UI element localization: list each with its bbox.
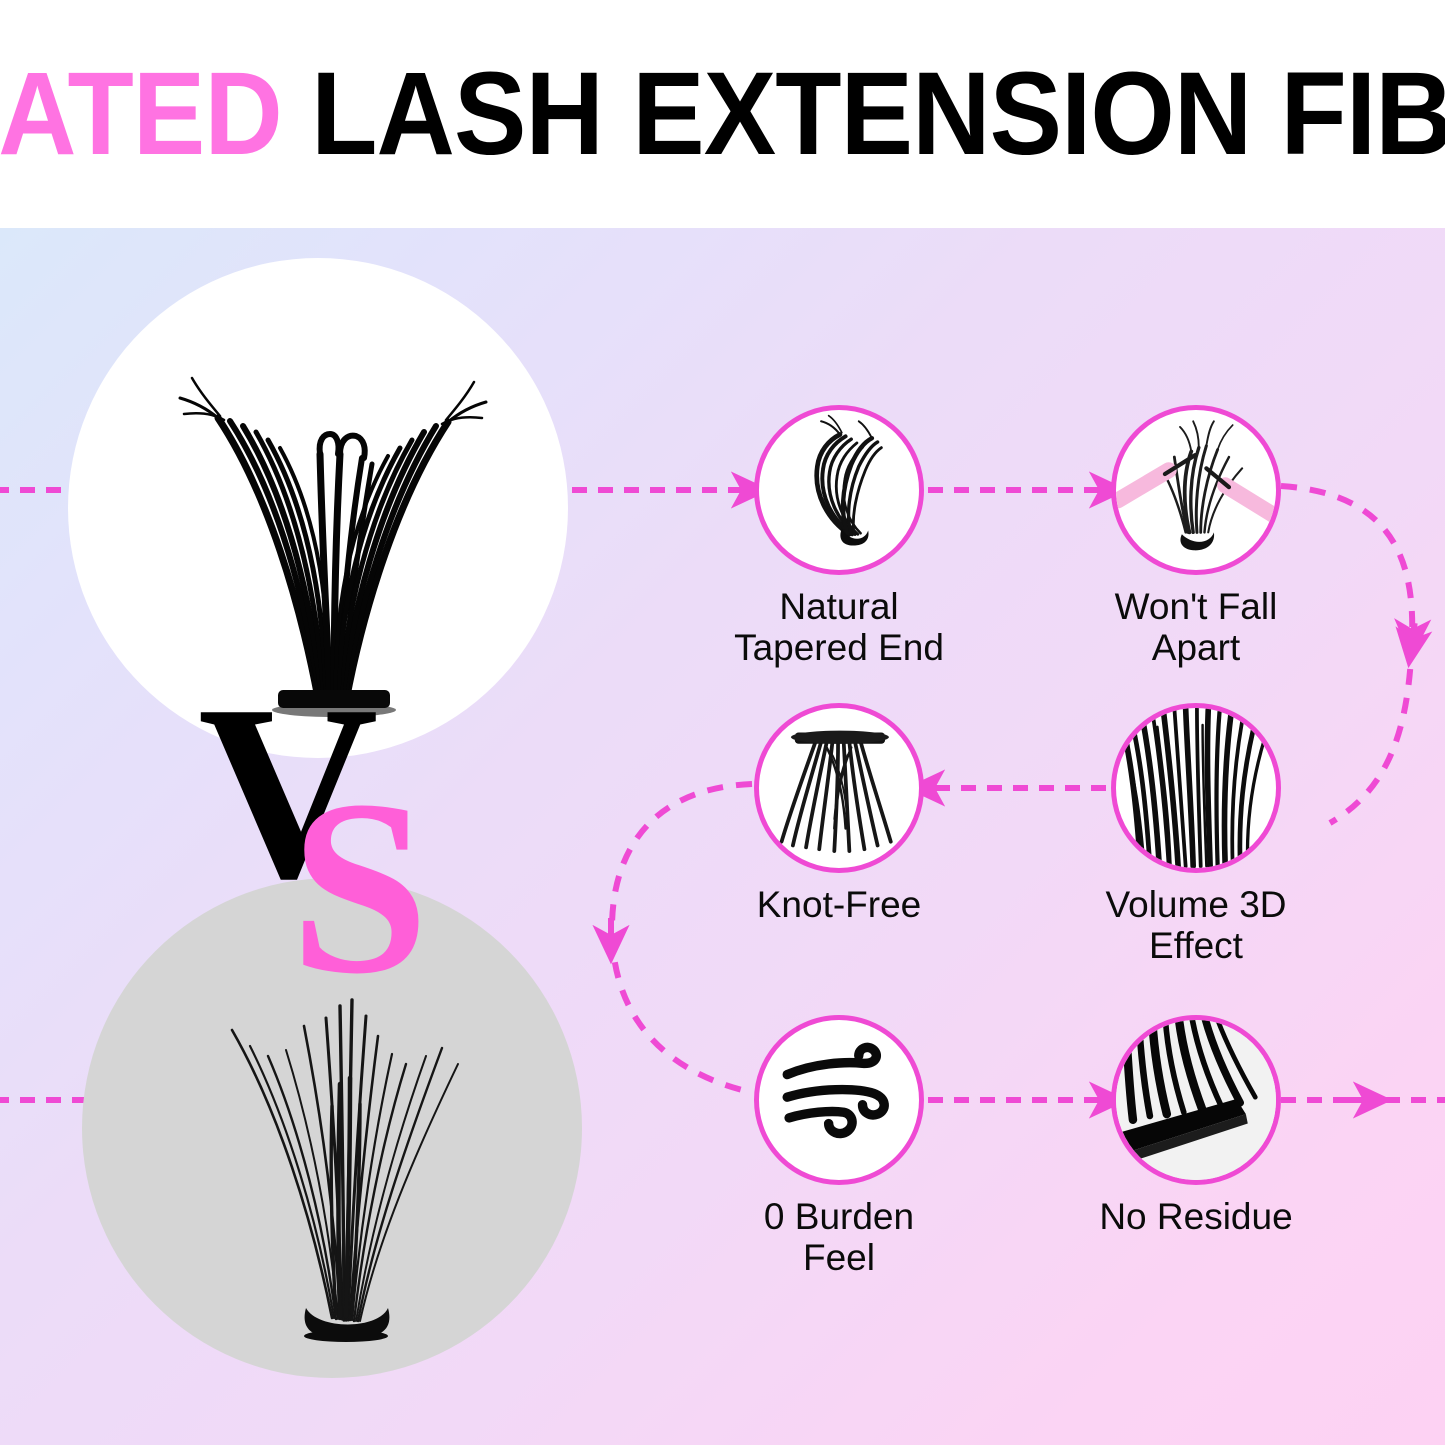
feature-circle-volume-3d-effect[interactable]	[1111, 703, 1281, 873]
title-highlight-word: UPDATED	[0, 48, 282, 180]
feature-wont-fall-apart[interactable]: Won't Fall Apart	[1081, 405, 1311, 668]
feature-circle-zero-burden-feel[interactable]	[754, 1015, 924, 1185]
lash-strip-band-icon	[1116, 1020, 1276, 1180]
infographic-canvas: V S	[0, 228, 1445, 1445]
old-fiber-spiky-icon	[82, 878, 582, 1378]
tweezers-pulling-lash-icon	[1116, 410, 1276, 570]
header-banner: UPDATED LASH EXTENSION FIBERS	[0, 0, 1445, 228]
infographic-page: UPDATED LASH EXTENSION FIBERS	[0, 0, 1445, 1445]
feature-label-no-residue: No Residue	[1081, 1197, 1311, 1238]
updated-fiber-fan-icon	[68, 258, 568, 758]
feature-label-zero-burden-feel: 0 Burden Feel	[724, 1197, 954, 1278]
feature-knot-free[interactable]: Knot-Free	[724, 703, 954, 926]
feature-circle-natural-tapered-end[interactable]	[754, 405, 924, 575]
comparison-circle-old	[82, 878, 582, 1378]
feature-label-natural-tapered-end: Natural Tapered End	[724, 587, 954, 668]
tapered-lash-fiber-icon	[759, 410, 919, 570]
feature-no-residue[interactable]: No Residue	[1081, 1015, 1311, 1238]
title-rest-words: LASH EXTENSION FIBERS	[311, 48, 1445, 180]
feature-circle-no-residue[interactable]	[1111, 1015, 1281, 1185]
feature-circle-wont-fall-apart[interactable]	[1111, 405, 1281, 575]
feature-volume-3d-effect[interactable]: Volume 3D Effect	[1081, 703, 1311, 966]
comparison-circle-updated	[68, 258, 568, 758]
page-title: UPDATED LASH EXTENSION FIBERS	[0, 55, 1445, 173]
feature-label-wont-fall-apart: Won't Fall Apart	[1081, 587, 1311, 668]
wind-breeze-icon	[759, 1020, 919, 1180]
feature-label-volume-3d-effect: Volume 3D Effect	[1081, 885, 1311, 966]
feature-circle-knot-free[interactable]	[754, 703, 924, 873]
feature-label-knot-free: Knot-Free	[724, 885, 954, 926]
volume-lash-strands-icon	[1116, 708, 1276, 868]
lash-band-base-icon	[759, 708, 919, 868]
feature-zero-burden-feel[interactable]: 0 Burden Feel	[724, 1015, 954, 1278]
feature-natural-tapered-end[interactable]: Natural Tapered End	[724, 405, 954, 668]
